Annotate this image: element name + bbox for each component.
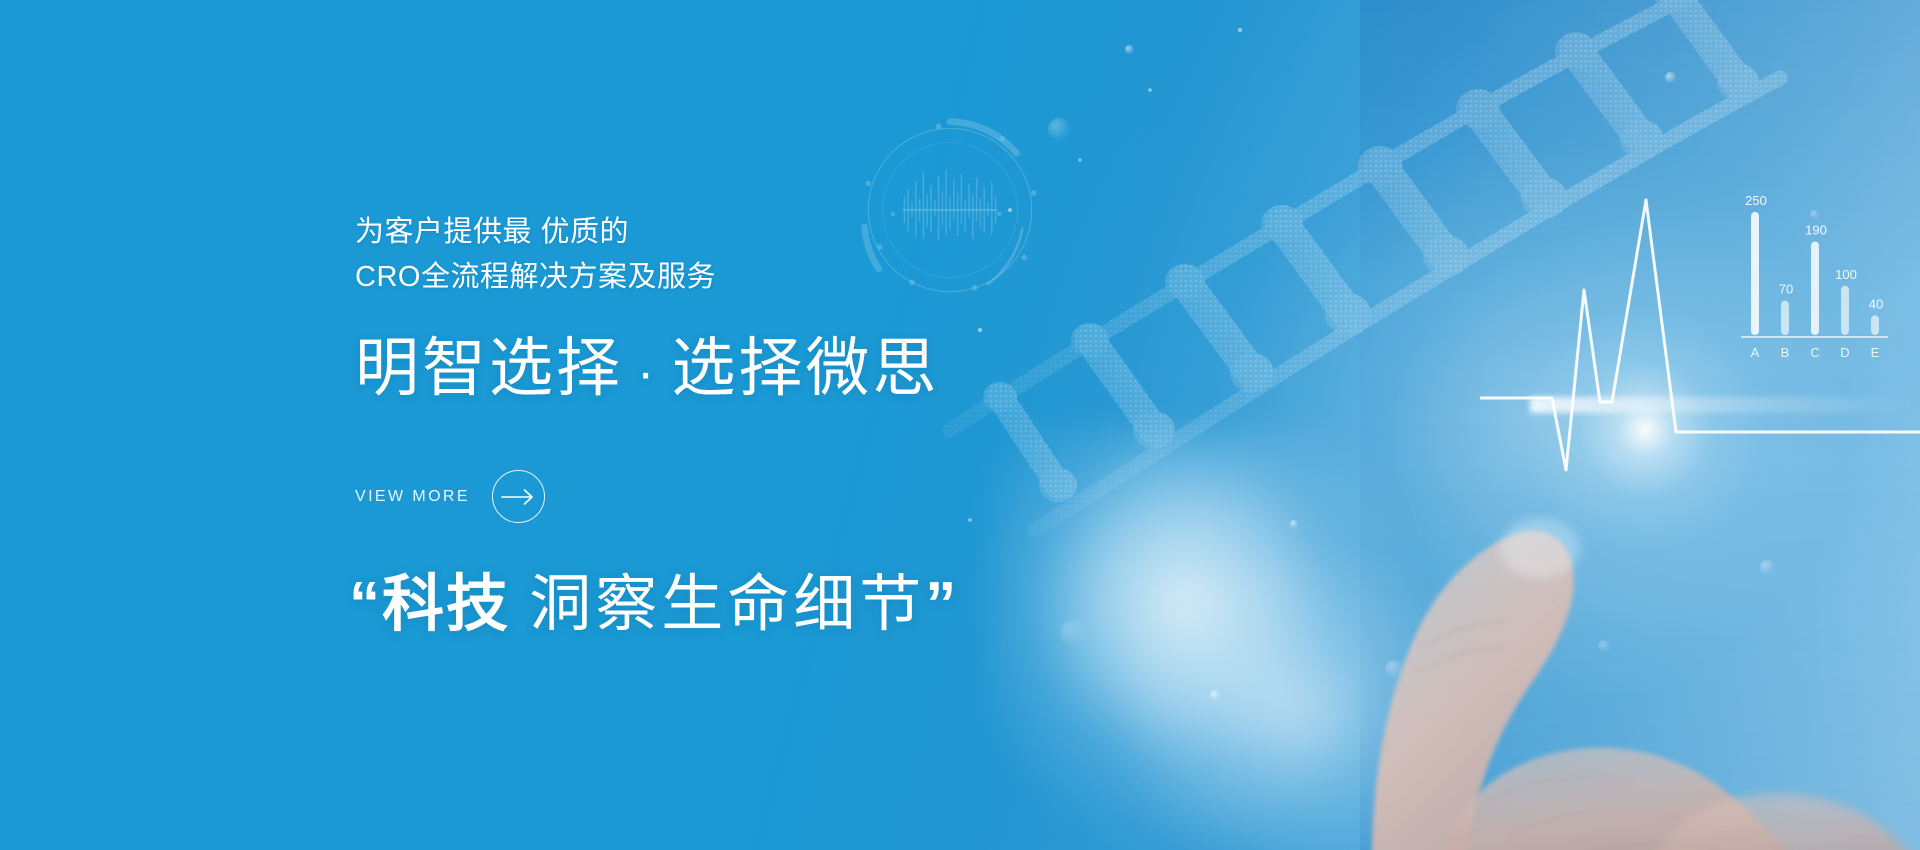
hero-headline: 明智选择·选择微思: [355, 330, 939, 411]
hero-headline-left: 明智选择: [355, 332, 623, 404]
chart-bar: [1781, 301, 1789, 335]
quote-open-mark: “: [349, 570, 382, 639]
quote-light-text: 洞察生命细节: [529, 570, 925, 639]
quote-bold-text: 科技: [382, 570, 510, 639]
chart-value-label: 100: [1835, 267, 1857, 282]
chart-bar: [1811, 241, 1819, 335]
chart-value-label: 250: [1745, 193, 1767, 208]
chart-category-label: B: [1781, 345, 1790, 360]
hero-content: 为客户提供最 优质的 CRO全流程解决方案及服务 明智选择·选择微思 VIEW …: [355, 0, 1255, 850]
chart-bar: [1871, 315, 1879, 335]
chart-value-label: 190: [1805, 222, 1827, 237]
view-more-label: VIEW MORE: [355, 488, 470, 506]
hero-subtitle-line2: CRO全流程解决方案及服务: [355, 255, 716, 300]
hero-banner: 250A70B190C100D40E 为客户提供最 优质的 CRO全流程解决方案…: [0, 0, 1920, 850]
hero-headline-right: 选择微思: [671, 332, 939, 404]
chart-bar: [1841, 286, 1849, 335]
hero-subtitle-line1: 为客户提供最 优质的: [355, 216, 629, 248]
chart-category-label: E: [1871, 345, 1880, 360]
chart-bar: [1751, 212, 1759, 335]
hero-subtitle: 为客户提供最 优质的 CRO全流程解决方案及服务: [355, 210, 716, 300]
chart-category-label: D: [1840, 345, 1849, 360]
chart-value-label: 70: [1779, 282, 1793, 297]
chart-category-label: C: [1810, 345, 1819, 360]
bar-chart: 250A70B190C100D40E: [1735, 185, 1900, 385]
hero-quote: “科技 洞察生命细节”: [349, 565, 958, 645]
quote-close-mark: ”: [925, 570, 958, 639]
chart-value-label: 40: [1869, 296, 1883, 311]
view-more-button[interactable]: VIEW MORE: [355, 470, 545, 523]
chart-category-label: A: [1751, 345, 1760, 360]
hero-headline-separator: ·: [623, 344, 671, 402]
arrow-right-icon[interactable]: [492, 470, 545, 523]
